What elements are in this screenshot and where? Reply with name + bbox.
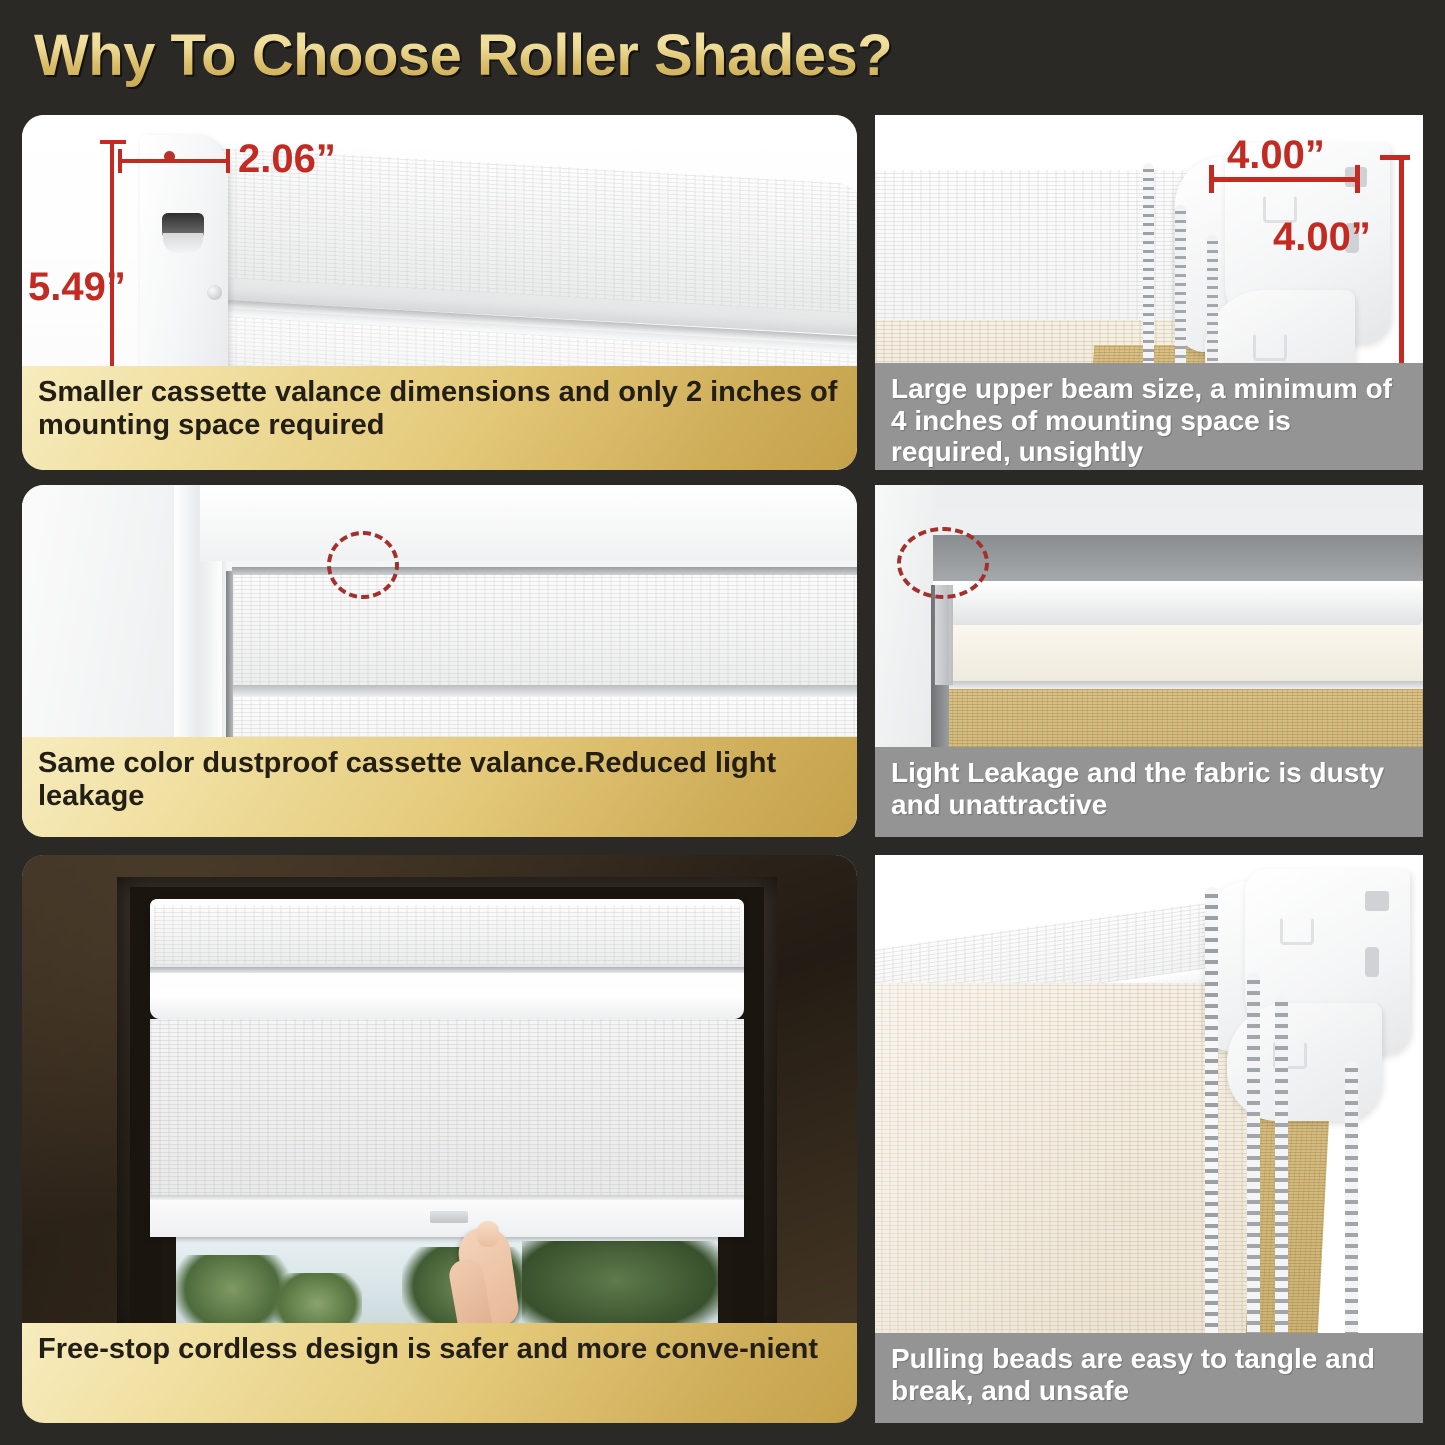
caption-free-stop-cordless: Free-stop cordless design is safer and m… — [22, 1323, 857, 1423]
gap-highlight-ellipse — [327, 531, 399, 599]
caption-pulling-beads: Pulling beads are easy to tangle and bre… — [875, 1333, 1423, 1423]
caption-light-leakage: Light Leakage and the fabric is dusty an… — [875, 747, 1423, 837]
panel-cassette-dimensions: 5.49” 2.06” Smaller cassette valance dim… — [22, 115, 857, 470]
gap-highlight-ellipse — [897, 527, 989, 599]
panel-dustproof-valance: smaller gap Same color dustproof cassett… — [22, 485, 857, 837]
panel-free-stop-cordless: Free-stop cordless design is safer and m… — [22, 855, 857, 1423]
panel-pulling-beads: Pulling beads are easy to tangle and bre… — [875, 855, 1423, 1423]
beam-height-dimension-label: 4.00” — [1273, 215, 1371, 260]
width-dimension-label: 2.06” — [238, 137, 336, 182]
beam-width-dimension-label: 4.00” — [1227, 133, 1325, 178]
width-dimension-line — [118, 159, 230, 163]
infographic-page: Why To Choose Roller Shades? — [0, 0, 1445, 1445]
caption-large-upper-beam: Large upper beam size, a minimum of 4 in… — [875, 363, 1423, 470]
caption-dustproof-valance: Same color dustproof cassette valance.Re… — [22, 737, 857, 837]
panel-light-leakage: Large gap Light Leakage and the fabric i… — [875, 485, 1423, 837]
page-title: Why To Choose Roller Shades? — [34, 22, 892, 89]
height-dimension-label: 5.49” — [28, 265, 126, 310]
caption-cassette-dimensions: Smaller cassette valance dimensions and … — [22, 366, 857, 470]
panel-large-upper-beam: 4.00” 4.00” Large upper beam size, a min… — [875, 115, 1423, 470]
